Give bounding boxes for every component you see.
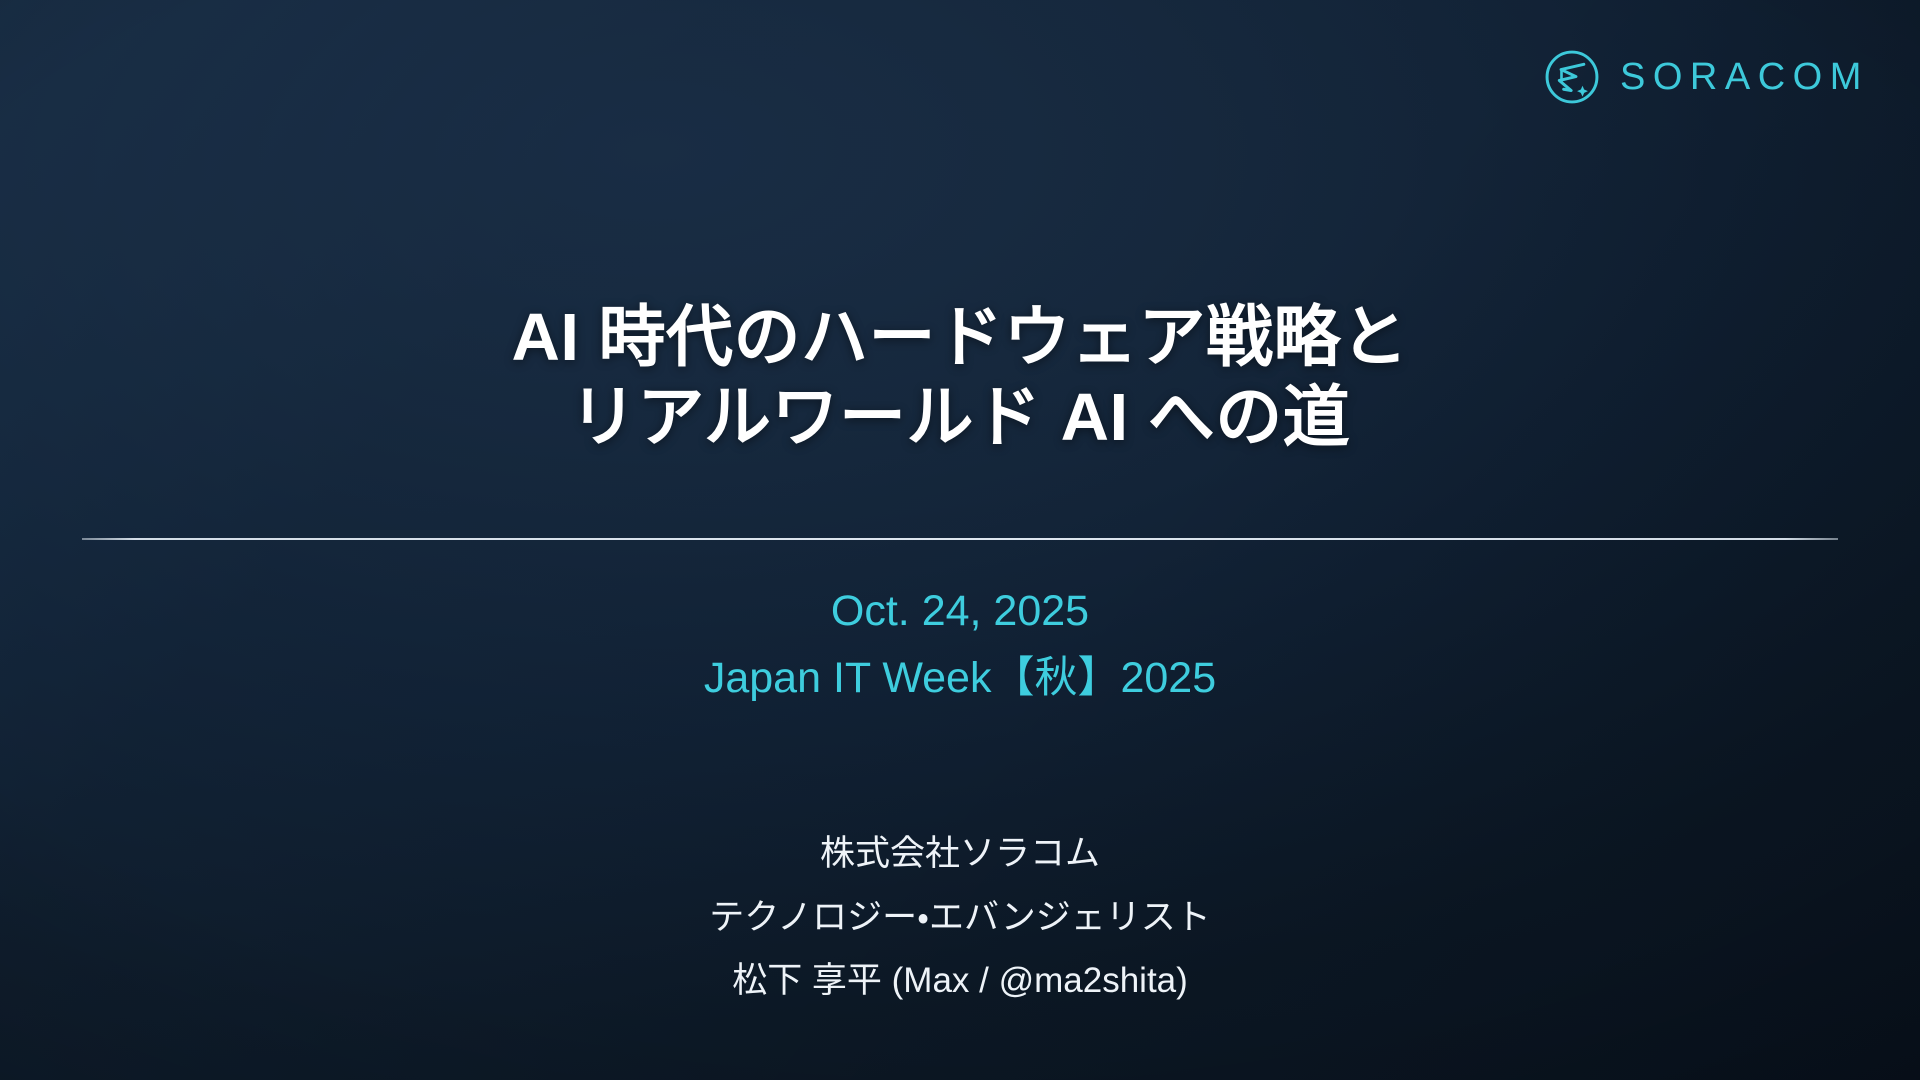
event-info: Oct. 24, 2025 Japan IT Week【秋】2025	[0, 578, 1920, 711]
soracom-circle-logo-icon	[1544, 49, 1600, 105]
soracom-wordmark: SORACOM	[1620, 58, 1869, 96]
presentation-slide: SORACOM AI 時代のハードウェア戦略と リアルワールド AI への道 O…	[0, 0, 1920, 1080]
presenter-info: 株式会社ソラコム テクノロジー・エバンジェリスト 松下 享平 (Max / @m…	[0, 822, 1920, 1013]
presenter-role: テクノロジー・エバンジェリスト	[0, 886, 1920, 950]
slide-content: SORACOM AI 時代のハードウェア戦略と リアルワールド AI への道 O…	[0, 0, 1920, 1080]
presenter-company: 株式会社ソラコム	[0, 822, 1920, 886]
slide-title: AI 時代のハードウェア戦略と リアルワールド AI への道	[0, 298, 1920, 457]
title-line-2: リアルワールド AI への道	[0, 378, 1920, 458]
event-date: Oct. 24, 2025	[0, 578, 1920, 645]
title-line-1: AI 時代のハードウェア戦略と	[0, 298, 1920, 378]
presenter-name: 松下 享平 (Max / @ma2shita)	[0, 949, 1920, 1013]
soracom-logo: SORACOM	[1544, 46, 1869, 108]
event-name: Japan IT Week【秋】2025	[0, 645, 1920, 712]
title-divider	[82, 538, 1838, 540]
